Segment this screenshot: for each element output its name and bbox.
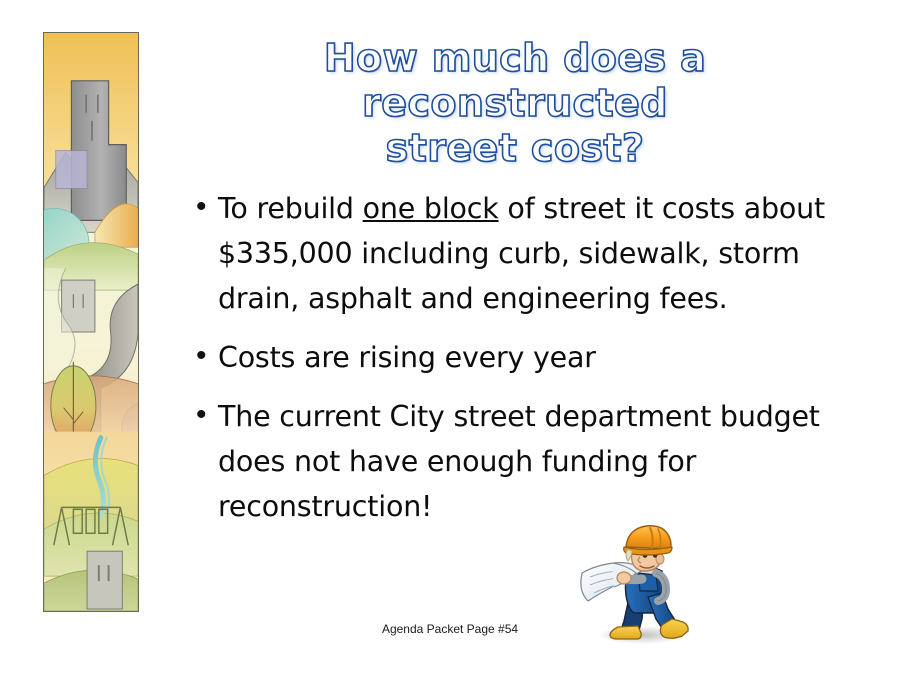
sidebar-cityscape-illustration xyxy=(43,32,139,612)
footer-page-label: Agenda Packet Page #54 xyxy=(0,622,900,636)
list-item: • Costs are rising every year xyxy=(196,335,856,380)
list-item: • The current City street department bud… xyxy=(196,394,856,529)
title-block: How much does a reconstructed street cos… xyxy=(175,36,855,170)
bullet-text-3: The current City street department budge… xyxy=(218,394,856,529)
slide-title: How much does a reconstructed street cos… xyxy=(175,36,855,170)
bullet-marker-icon: • xyxy=(196,335,218,377)
bullet-1-underlined-phrase: one block xyxy=(363,192,499,225)
bullet-marker-icon: • xyxy=(196,186,218,228)
bullet-1-segment-1: To rebuild xyxy=(218,192,363,225)
bullet-text-2: Costs are rising every year xyxy=(218,335,856,380)
bullet-text-1: To rebuild one block of street it costs … xyxy=(218,186,856,321)
bullet-marker-icon: • xyxy=(196,394,218,436)
list-item: • To rebuild one block of street it cost… xyxy=(196,186,856,321)
bullet-list: • To rebuild one block of street it cost… xyxy=(196,186,856,543)
presentation-slide: How much does a reconstructed street cos… xyxy=(0,0,900,675)
